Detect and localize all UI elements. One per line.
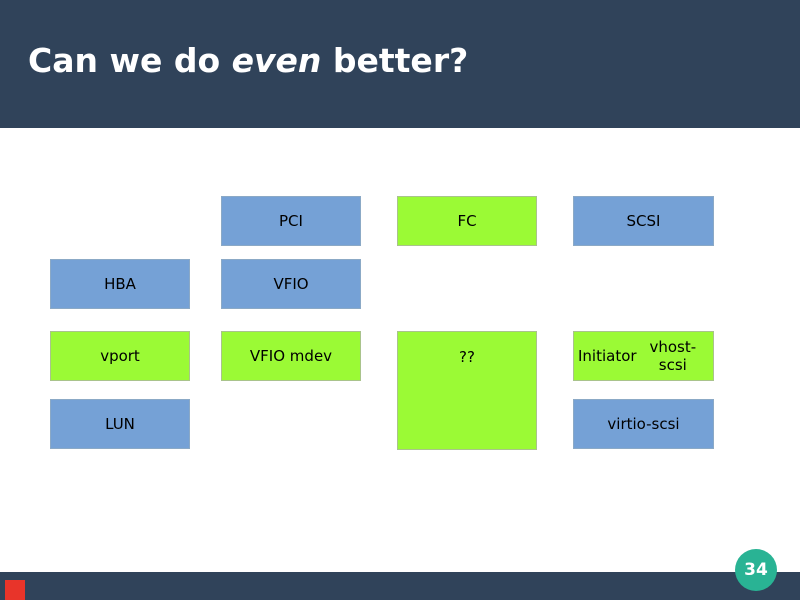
diagram-node-lun: LUN bbox=[50, 399, 190, 449]
diagram-node-unknown: ?? bbox=[397, 331, 537, 450]
footer-bar bbox=[0, 572, 800, 600]
diagram-node-label: ?? bbox=[459, 348, 475, 366]
diagram-node-label: virtio-scsi bbox=[607, 415, 679, 433]
diagram-node-initiator: Initiatorvhost-scsi bbox=[573, 331, 714, 381]
diagram-node-label: LUN bbox=[105, 415, 135, 433]
page-title-suffix: better? bbox=[321, 41, 468, 80]
diagram-node-virtio-scsi: virtio-scsi bbox=[573, 399, 714, 449]
page-title-prefix: Can we do bbox=[28, 41, 232, 80]
diagram-node-label: vport bbox=[100, 347, 140, 365]
diagram-node-vport: vport bbox=[50, 331, 190, 381]
diagram-node-vfio-mdev: VFIO mdev bbox=[221, 331, 361, 381]
diagram-node-fc: FC bbox=[397, 196, 537, 246]
footer-accent-square bbox=[5, 580, 25, 600]
page-title-emphasis: even bbox=[232, 41, 322, 80]
diagram-node-hba: HBA bbox=[50, 259, 190, 309]
title-bar: Can we do even better? bbox=[0, 0, 800, 128]
diagram-node-label: PCI bbox=[279, 212, 303, 230]
diagram-node-label: HBA bbox=[104, 275, 136, 293]
block-diagram: HBAvportLUNPCIVFIOVFIO mdevFC??SCSIIniti… bbox=[0, 128, 800, 572]
diagram-node-label: VFIO mdev bbox=[250, 347, 332, 365]
diagram-node-label: vhost-scsi bbox=[637, 338, 709, 374]
page-number-badge: 34 bbox=[735, 549, 777, 591]
page-title: Can we do even better? bbox=[28, 40, 468, 82]
diagram-node-vfio: VFIO bbox=[221, 259, 361, 309]
diagram-node-label: SCSI bbox=[627, 212, 661, 230]
diagram-node-scsi: SCSI bbox=[573, 196, 714, 246]
page-number-label: 34 bbox=[744, 560, 768, 580]
diagram-node-pci: PCI bbox=[221, 196, 361, 246]
slide: Can we do even better? HBAvportLUNPCIVFI… bbox=[0, 0, 800, 600]
diagram-node-label: Initiator bbox=[578, 347, 637, 365]
diagram-node-label: FC bbox=[457, 212, 476, 230]
diagram-node-label: VFIO bbox=[273, 275, 308, 293]
